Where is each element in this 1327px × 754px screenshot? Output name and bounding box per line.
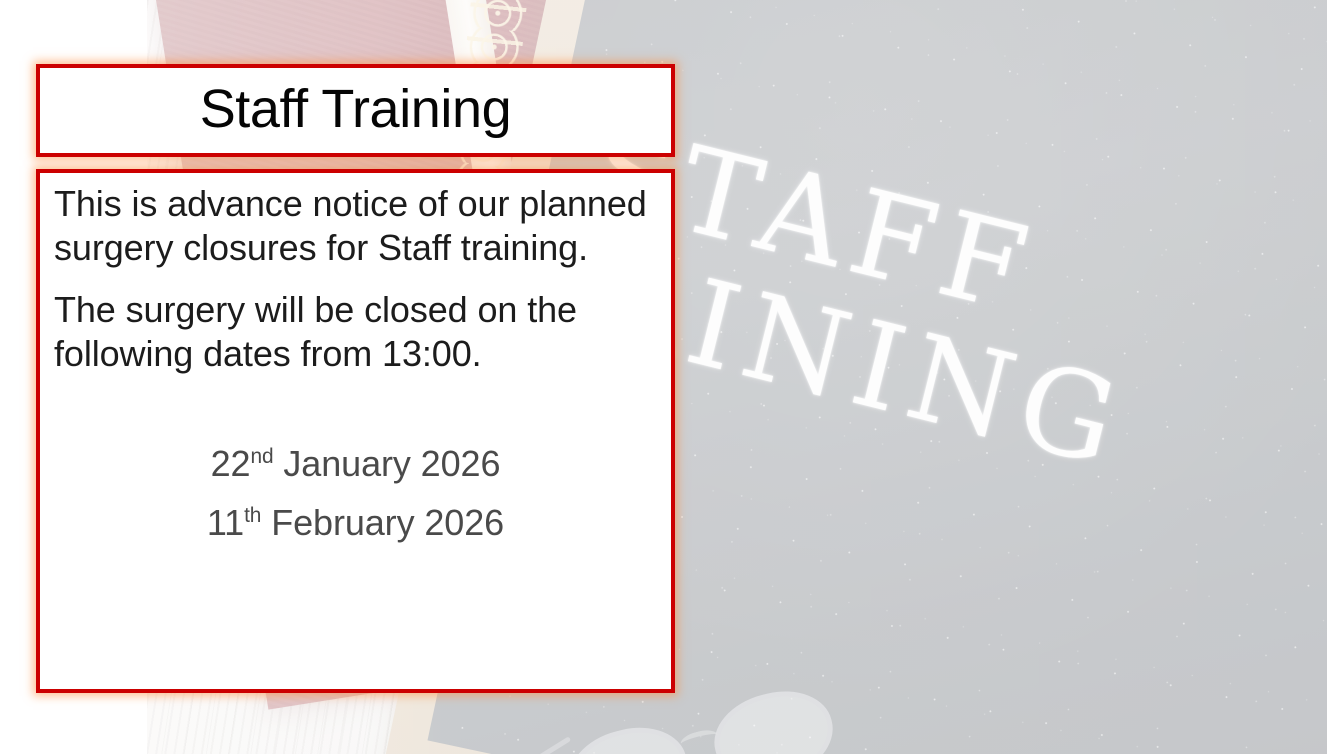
closure-date-1: 22nd January 2026 [54, 434, 657, 493]
title-textbox: Staff Training [36, 64, 675, 157]
body-paragraph-1: This is advance notice of our planned su… [54, 182, 657, 270]
body-paragraph-2: The surgery will be closed on the follow… [54, 288, 657, 376]
closure-date-2: 11th February 2026 [54, 493, 657, 552]
closure-date-1-day: 22 [211, 443, 251, 484]
closure-date-2-day: 11 [207, 502, 244, 543]
page-title: Staff Training [200, 82, 512, 140]
closure-dates-list: 22nd January 2026 11th February 2026 [54, 434, 657, 553]
slide-canvas: STAFF TRAINING Staff Training This is ad… [0, 0, 1327, 754]
closure-date-1-ordinal: nd [250, 445, 273, 468]
closure-date-1-rest: January 2026 [274, 443, 501, 484]
body-textbox: This is advance notice of our planned su… [36, 169, 675, 693]
glasses-right-lens [705, 680, 842, 754]
closure-date-2-rest: February 2026 [261, 502, 504, 543]
closure-date-2-ordinal: th [244, 504, 261, 527]
chalk-line-1: STAFF [578, 105, 1327, 433]
